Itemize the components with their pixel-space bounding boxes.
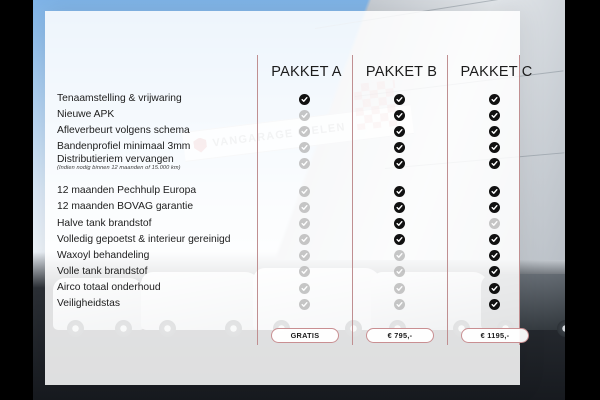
check-circle-icon <box>394 250 405 261</box>
feature-label: Volledig gepoetst & interieur gereinigd <box>57 235 230 245</box>
feature-row: Distributieriem vervangen(Indien nodig b… <box>57 155 253 171</box>
check-circle-icon <box>299 110 310 121</box>
check-cell <box>352 264 447 280</box>
car-wheel <box>557 320 565 337</box>
check-circle-icon <box>394 158 405 169</box>
check-circle-icon <box>489 142 500 153</box>
check-circle-icon <box>489 299 500 310</box>
check-cell <box>447 280 542 296</box>
check-cell <box>447 248 542 264</box>
feature-label: Airco totaal onderhoud <box>57 283 161 293</box>
check-circle-icon <box>489 110 500 121</box>
check-circle-icon <box>394 186 405 197</box>
feature-row: Halve tank brandstof <box>57 216 253 232</box>
check-cell <box>352 123 447 139</box>
feature-row: Volledig gepoetst & interieur gereinigd <box>57 232 253 248</box>
check-cell <box>257 216 352 232</box>
check-circle-icon <box>394 142 405 153</box>
check-cell <box>352 280 447 296</box>
check-circle-icon <box>489 250 500 261</box>
feature-group-gap <box>257 171 352 183</box>
check-column-pakket-c <box>447 91 542 312</box>
check-circle-icon <box>299 218 310 229</box>
check-cell <box>447 264 542 280</box>
check-circle-icon <box>299 299 310 310</box>
check-cell <box>257 296 352 312</box>
check-cell <box>257 91 352 107</box>
check-cell <box>352 107 447 123</box>
feature-group-gap <box>57 171 253 183</box>
feature-group-gap <box>352 171 447 183</box>
feature-label: Veiligheidstas <box>57 299 120 309</box>
check-cell <box>257 200 352 216</box>
feature-group-gap <box>447 171 542 183</box>
feature-row: Volle tank brandstof <box>57 264 253 280</box>
check-cell <box>447 232 542 248</box>
check-cell <box>447 155 542 171</box>
check-cell <box>352 296 447 312</box>
feature-label: 12 maanden Pechhulp Europa <box>57 186 196 196</box>
check-circle-icon <box>489 94 500 105</box>
check-cell <box>352 155 447 171</box>
check-circle-icon <box>394 234 405 245</box>
check-circle-icon <box>299 283 310 294</box>
check-circle-icon <box>394 126 405 137</box>
check-circle-icon <box>489 158 500 169</box>
feature-label: Afleverbeurt volgens schema <box>57 126 190 136</box>
check-circle-icon <box>489 283 500 294</box>
check-circle-icon <box>394 218 405 229</box>
feature-label: Halve tank brandstof <box>57 219 151 229</box>
column-header-pakket-b: PAKKET B <box>354 64 449 80</box>
check-cell <box>447 91 542 107</box>
price-badge-pakket-b[interactable]: € 795,- <box>366 328 434 343</box>
check-cell <box>447 183 542 199</box>
check-cell <box>257 280 352 296</box>
check-cell <box>257 183 352 199</box>
feature-row: Airco totaal onderhoud <box>57 280 253 296</box>
price-badge-pakket-c[interactable]: € 1195,- <box>461 328 529 343</box>
check-cell <box>352 91 447 107</box>
check-column-pakket-a <box>257 91 352 312</box>
check-cell <box>257 248 352 264</box>
feature-note: (Indien nodig binnen 12 maanden of 15.00… <box>57 166 181 172</box>
feature-label: Tenaamstelling & vrijwaring <box>57 94 182 104</box>
check-circle-icon <box>299 250 310 261</box>
check-cell <box>447 123 542 139</box>
package-comparison-card: PAKKET A PAKKET B PAKKET C Tenaamstellin… <box>45 11 520 385</box>
check-cell <box>257 155 352 171</box>
check-circle-icon <box>394 110 405 121</box>
check-circle-icon <box>489 234 500 245</box>
check-circle-icon <box>299 186 310 197</box>
check-cell <box>257 107 352 123</box>
check-cell <box>352 183 447 199</box>
check-column-pakket-b <box>352 91 447 312</box>
check-circle-icon <box>489 186 500 197</box>
column-header-pakket-c: PAKKET C <box>449 64 544 80</box>
feature-label: Distributieriem vervangen <box>57 155 181 165</box>
feature-label: 12 maanden BOVAG garantie <box>57 202 193 212</box>
check-cell <box>352 139 447 155</box>
check-circle-icon <box>299 266 310 277</box>
check-circle-icon <box>489 218 500 229</box>
feature-row: 12 maanden Pechhulp Europa <box>57 183 253 199</box>
feature-label: Volle tank brandstof <box>57 267 147 277</box>
feature-row: Waxoyl behandeling <box>57 248 253 264</box>
check-cell <box>257 264 352 280</box>
check-cell <box>352 216 447 232</box>
check-cell <box>447 107 542 123</box>
check-circle-icon <box>299 94 310 105</box>
check-circle-icon <box>299 202 310 213</box>
check-circle-icon <box>299 126 310 137</box>
feature-label: Nieuwe APK <box>57 110 114 120</box>
check-circle-icon <box>299 158 310 169</box>
check-circle-icon <box>489 202 500 213</box>
check-circle-icon <box>299 142 310 153</box>
check-circle-icon <box>394 283 405 294</box>
check-cell <box>257 232 352 248</box>
check-circle-icon <box>299 234 310 245</box>
feature-row: Bandenprofiel minimaal 3mm <box>57 139 253 155</box>
check-cell <box>352 232 447 248</box>
check-circle-icon <box>394 266 405 277</box>
feature-row: Nieuwe APK <box>57 107 253 123</box>
check-cell <box>447 216 542 232</box>
check-cell <box>447 296 542 312</box>
screenshot-root: VANGARAGE GIELEN <box>0 0 600 400</box>
feature-label-column: Tenaamstelling & vrijwaringNieuwe APKAfl… <box>57 91 253 312</box>
feature-label: Waxoyl behandeling <box>57 251 149 261</box>
check-cell <box>447 200 542 216</box>
check-cell <box>257 139 352 155</box>
check-circle-icon <box>489 126 500 137</box>
feature-row: Tenaamstelling & vrijwaring <box>57 91 253 107</box>
feature-label: Bandenprofiel minimaal 3mm <box>57 142 190 152</box>
check-circle-icon <box>394 94 405 105</box>
check-circle-icon <box>394 202 405 213</box>
feature-row: Veiligheidstas <box>57 296 253 312</box>
check-circle-icon <box>394 299 405 310</box>
feature-row: 12 maanden BOVAG garantie <box>57 200 253 216</box>
price-badge-pakket-a[interactable]: GRATIS <box>271 328 339 343</box>
feature-row: Afleverbeurt volgens schema <box>57 123 253 139</box>
check-cell <box>352 200 447 216</box>
package-comparison-table: PAKKET A PAKKET B PAKKET C Tenaamstellin… <box>45 11 520 385</box>
check-cell <box>447 139 542 155</box>
check-circle-icon <box>489 266 500 277</box>
check-cell <box>257 123 352 139</box>
column-header-pakket-a: PAKKET A <box>259 64 354 80</box>
check-cell <box>352 248 447 264</box>
